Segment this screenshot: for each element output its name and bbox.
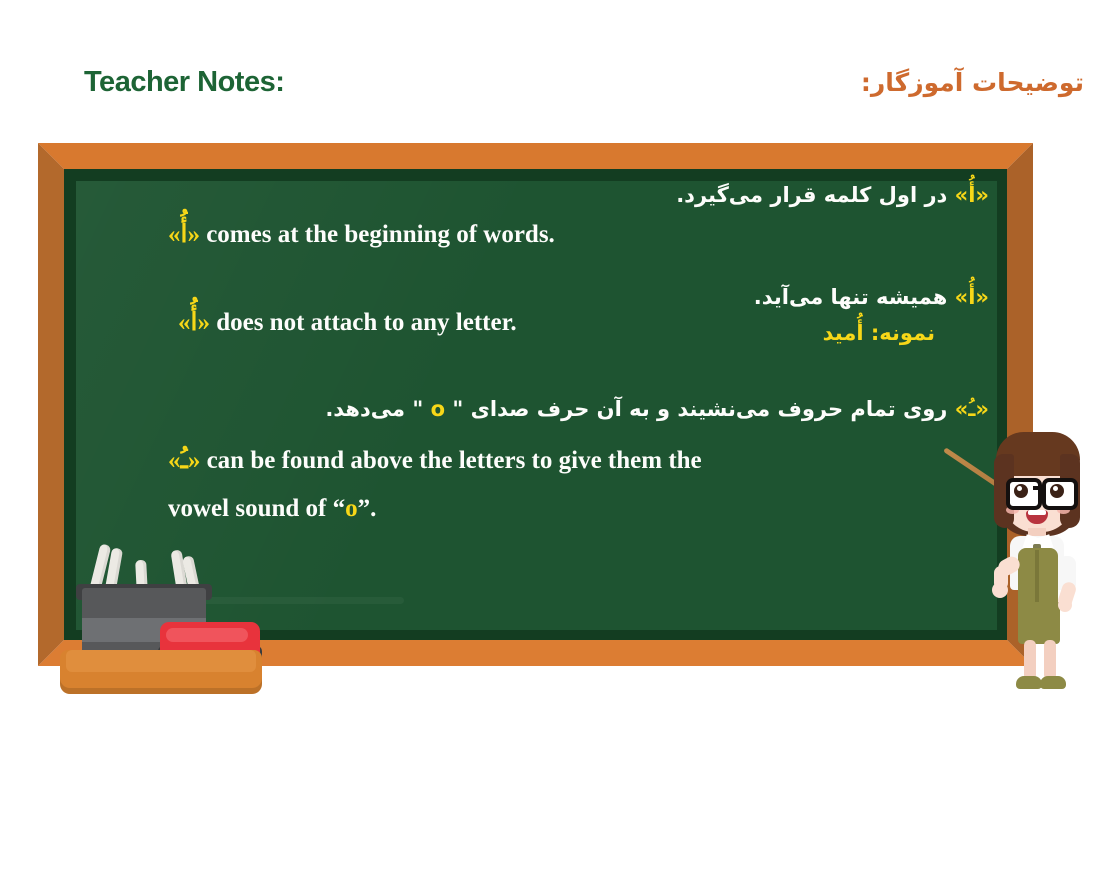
board-line-english-2-text: does not attach to any letter. xyxy=(210,309,517,336)
teacher-shoe-left xyxy=(1016,676,1042,689)
board-line-persian-1-text: در اول کلمه قرار می‌گیرد. xyxy=(676,183,954,207)
teacher-teeth xyxy=(1028,510,1046,515)
glasses-bridge xyxy=(1033,486,1045,490)
board-line-english-2: «أُ» does not attach to any letter. xyxy=(178,307,517,337)
highlight-letter-alef-damma: «أُ» xyxy=(178,309,210,336)
teacher-shoe-right xyxy=(1040,676,1066,689)
board-line-persian-3-text-a: روی تمام حروف می‌نشیند و به آن حرف صدای … xyxy=(445,397,955,421)
teacher-character xyxy=(962,430,1110,692)
board-line-english-1: «أُ» comes at the beginning of words. xyxy=(168,219,555,249)
vowel-sound-o: o xyxy=(345,495,358,522)
teacher-vest-opening xyxy=(1035,550,1039,604)
page-title-persian: توضیحات آموزگار: xyxy=(861,68,1084,97)
teacher-leg-right xyxy=(1044,640,1056,680)
highlight-letter-alef-damma: «أُ» xyxy=(955,183,989,207)
teacher-eye-sparkle-right xyxy=(1053,486,1058,491)
board-line-example: نمونه: أُمید xyxy=(823,321,935,345)
board-line-english-3-text: can be found above the letters to give t… xyxy=(200,447,701,474)
board-line-english-4-text-b: ”. xyxy=(358,495,377,522)
vowel-sound-o: o xyxy=(431,397,445,421)
board-line-persian-1: «أُ» در اول کلمه قرار می‌گیرد. xyxy=(676,183,989,207)
board-line-persian-2-text: همیشه تنها می‌آید. xyxy=(754,285,955,309)
teacher-hand-right xyxy=(1058,598,1072,612)
highlight-letter-alef-damma: «أُ» xyxy=(168,221,200,248)
highlight-mark-damma: «ـُ» xyxy=(955,397,989,421)
chalk-tray xyxy=(60,536,270,694)
board-line-english-3: «ـُ» can be found above the letters to g… xyxy=(168,445,702,475)
teacher-eye-sparkle-left xyxy=(1017,486,1022,491)
page-title: Teacher Notes: xyxy=(84,66,284,99)
highlight-letter-alef-damma: «أُ» xyxy=(955,285,989,309)
board-line-persian-3-text-b: " می‌دهد. xyxy=(325,397,430,421)
tray-shelf-top xyxy=(66,650,256,672)
teacher-hand-left xyxy=(992,582,1008,598)
highlight-mark-damma: «ـُ» xyxy=(168,447,200,474)
board-line-english-4-text-a: vowel sound of “ xyxy=(168,495,345,522)
board-line-english-1-text: comes at the beginning of words. xyxy=(200,221,555,248)
board-line-persian-3: «ـُ» روی تمام حروف می‌نشیند و به آن حرف … xyxy=(325,397,989,421)
board-line-english-4: vowel sound of “o”. xyxy=(168,495,376,523)
board-frame-top xyxy=(38,143,1033,169)
teacher-leg-left xyxy=(1024,640,1036,680)
eraser-highlight xyxy=(166,628,248,642)
board-line-persian-2: «أُ» همیشه تنها می‌آید. xyxy=(754,285,989,309)
teacher-skirt xyxy=(1018,602,1060,644)
